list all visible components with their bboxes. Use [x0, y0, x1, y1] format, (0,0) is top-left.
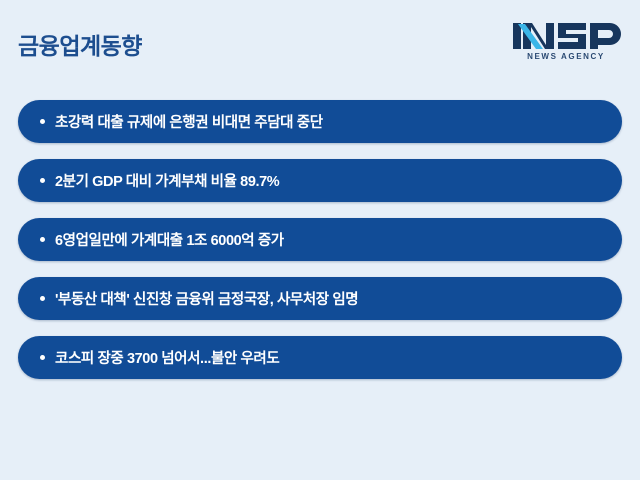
- bullet-dot-icon: [40, 119, 45, 124]
- bullet-dot-icon: [40, 296, 45, 301]
- headline-text: 초강력 대출 규제에 은행권 비대면 주담대 중단: [55, 111, 622, 132]
- headline-text: 2분기 GDP 대비 가계부채 비율 89.7%: [55, 170, 622, 191]
- headline-item[interactable]: 코스피 장중 3700 넘어서...불안 우려도: [18, 336, 622, 379]
- bullet-dot-icon: [40, 178, 45, 183]
- nsp-logo: NEWS AGENCY: [510, 20, 622, 68]
- nsp-logo-subtitle: NEWS AGENCY: [510, 52, 622, 61]
- bullet-dot-icon: [40, 355, 45, 360]
- headline-item[interactable]: '부동산 대책' 신진창 금융위 금정국장, 사무처장 임명: [18, 277, 622, 320]
- slide-header: 금융업계동향 NEWS AGENCY: [0, 0, 640, 92]
- news-headline-slide: 금융업계동향 NEWS AGENCY 초강력 대출 규제에 은행권 비대면 주담…: [0, 0, 640, 480]
- headline-text: 6영업일만에 가계대출 1조 6000억 증가: [55, 229, 622, 250]
- headline-text: 코스피 장중 3700 넘어서...불안 우려도: [55, 347, 622, 368]
- headline-item[interactable]: 2분기 GDP 대비 가계부채 비율 89.7%: [18, 159, 622, 202]
- headline-item[interactable]: 6영업일만에 가계대출 1조 6000억 증가: [18, 218, 622, 261]
- page-title: 금융업계동향: [18, 27, 142, 61]
- headline-text: '부동산 대책' 신진창 금융위 금정국장, 사무처장 임명: [55, 288, 622, 309]
- headline-list: 초강력 대출 규제에 은행권 비대면 주담대 중단 2분기 GDP 대비 가계부…: [18, 100, 622, 379]
- nsp-logo-mark: [510, 20, 622, 52]
- headline-item[interactable]: 초강력 대출 규제에 은행권 비대면 주담대 중단: [18, 100, 622, 143]
- bullet-dot-icon: [40, 237, 45, 242]
